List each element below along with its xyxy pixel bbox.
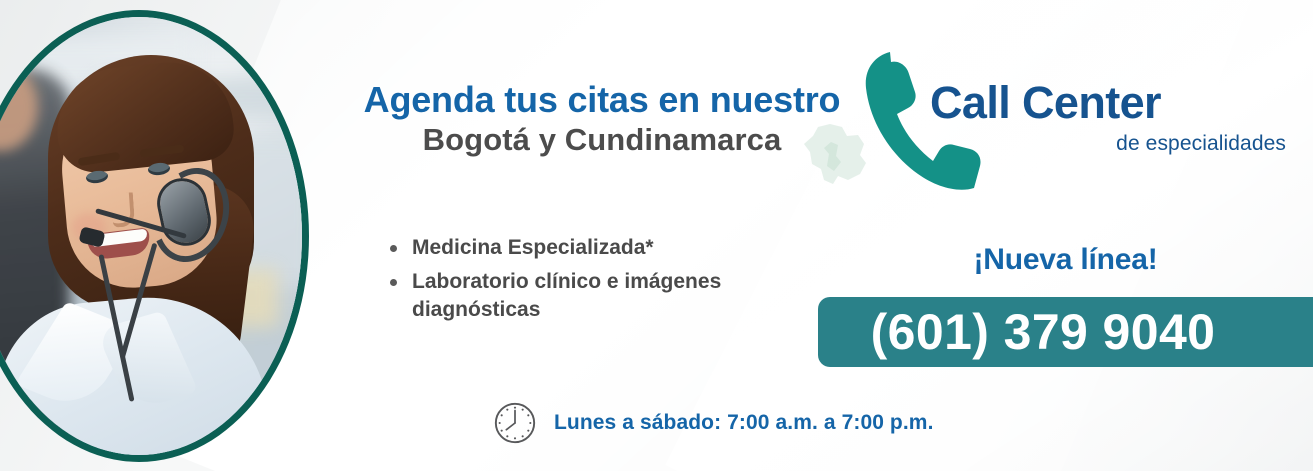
clock-icon [492, 400, 538, 446]
services-list: Medicina Especializada* Laboratorio clín… [386, 234, 766, 330]
new-line-label: ¡Nueva línea! [818, 243, 1313, 277]
phone-number[interactable]: (601) 379 9040 [818, 297, 1268, 367]
hours-text: Lunes a sábado: 7:00 a.m. a 7:00 p.m. [554, 411, 934, 435]
headline-primary: Agenda tus citas en nuestro [342, 80, 862, 120]
headline-secondary: Bogotá y Cundinamarca [342, 120, 862, 160]
agent-photo-circle [0, 10, 309, 462]
phone-number-box[interactable]: (601) 379 9040 [818, 297, 1313, 367]
agent-photo [0, 17, 302, 455]
hours-row: Lunes a sábado: 7:00 a.m. a 7:00 p.m. [492, 400, 934, 446]
logo-text-block: Call Center de especialidades [930, 80, 1290, 156]
logo-title: Call Center [930, 80, 1290, 125]
logo-subtitle: de especialidades [930, 132, 1290, 156]
list-item: Medicina Especializada* [386, 234, 766, 262]
call-center-promo-banner: Agenda tus citas en nuestro Bogotá y Cun… [0, 0, 1313, 471]
headline-block: Agenda tus citas en nuestro Bogotá y Cun… [342, 80, 862, 161]
list-item: Laboratorio clínico e imágenes diagnósti… [386, 268, 766, 324]
